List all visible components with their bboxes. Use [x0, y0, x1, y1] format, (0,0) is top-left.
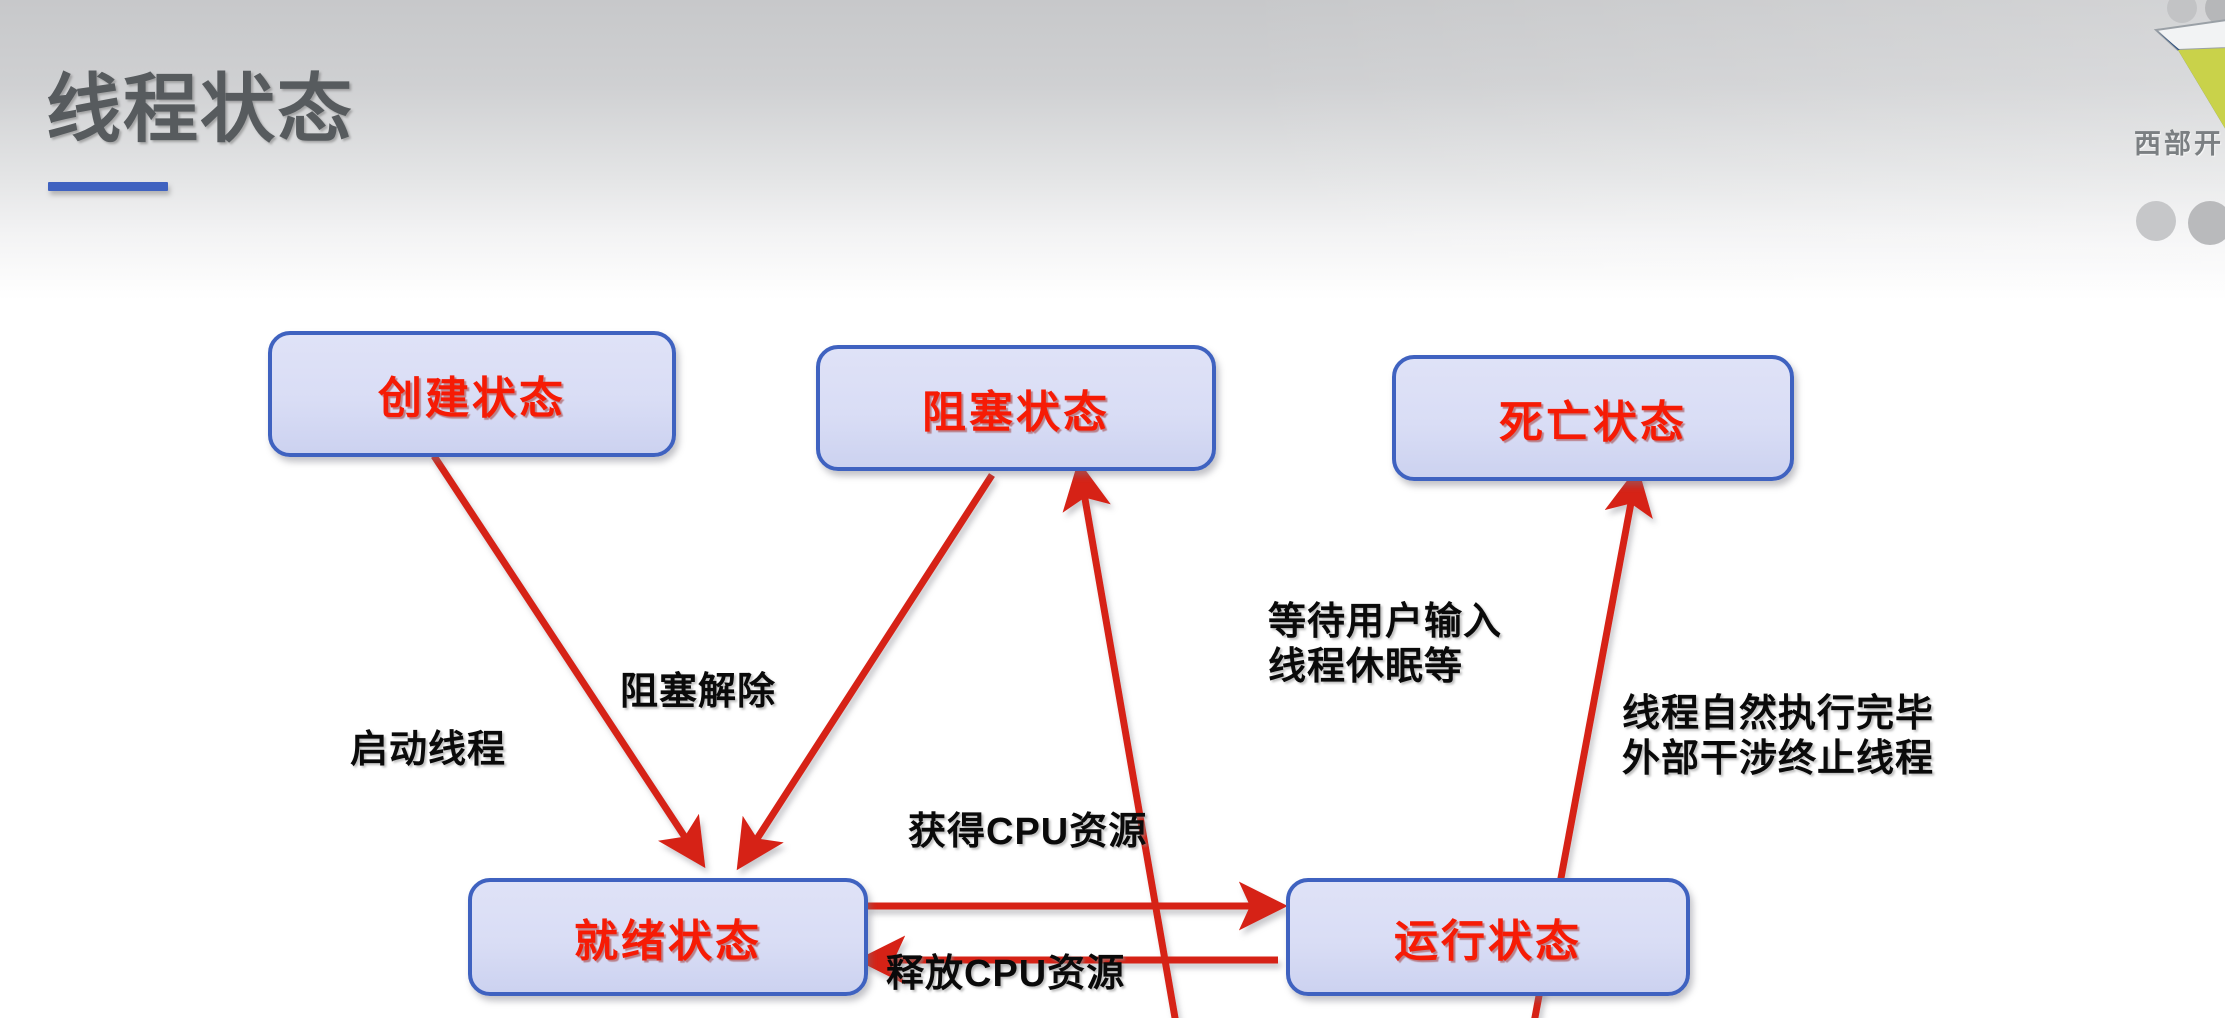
edge-label-block-line2: 线程休眠等 [1268, 645, 1502, 690]
slide-canvas: 线程状态 西部开 [0, 0, 2225, 1018]
state-node-label: 创建状态 [378, 362, 566, 426]
brand-logo: 西部开 [2148, 6, 2225, 216]
edge-label-block-line1: 等待用户输入 [1268, 600, 1502, 645]
logo-dot-2-icon [2188, 201, 2225, 245]
state-node-label: 阻塞状态 [922, 376, 1110, 440]
edge-label-terminate: 线程自然执行完毕 外部干涉终止线程 [1622, 692, 1934, 782]
arrow-start-thread [434, 456, 700, 860]
edge-label-release-cpu: 释放CPU资源 [886, 952, 1125, 997]
state-node-label: 就绪状态 [574, 905, 762, 969]
thread-state-diagram: 创建状态 阻塞状态 死亡状态 就绪状态 运行状态 启动线程 阻塞解除 获得CPU… [0, 300, 2225, 1018]
triangular-prism-logo-icon [2148, 6, 2225, 136]
edge-label-terminate-line1: 线程自然执行完毕 [1622, 692, 1934, 737]
title-underline-rule [48, 182, 168, 191]
state-node-label: 死亡状态 [1499, 386, 1687, 450]
edge-label-acquire-cpu: 获得CPU资源 [908, 810, 1147, 855]
state-node-dead[interactable]: 死亡状态 [1392, 355, 1794, 481]
state-node-label: 运行状态 [1394, 905, 1582, 969]
state-node-running[interactable]: 运行状态 [1286, 878, 1690, 996]
edge-label-terminate-line2: 外部干涉终止线程 [1622, 737, 1934, 782]
logo-wordmark: 西部开 [2134, 122, 2224, 161]
edge-label-start-thread: 启动线程 [350, 728, 506, 773]
state-node-blocked[interactable]: 阻塞状态 [816, 345, 1216, 471]
edge-label-unblock: 阻塞解除 [620, 670, 776, 715]
page-title: 线程状态 [46, 48, 354, 157]
state-node-created[interactable]: 创建状态 [268, 331, 676, 457]
arrow-block [1080, 470, 1200, 1018]
logo-dot-1-icon [2136, 201, 2176, 241]
arrow-unblock [742, 475, 992, 862]
edge-label-block: 等待用户输入 线程休眠等 [1268, 600, 1502, 690]
state-node-ready[interactable]: 就绪状态 [468, 878, 868, 996]
